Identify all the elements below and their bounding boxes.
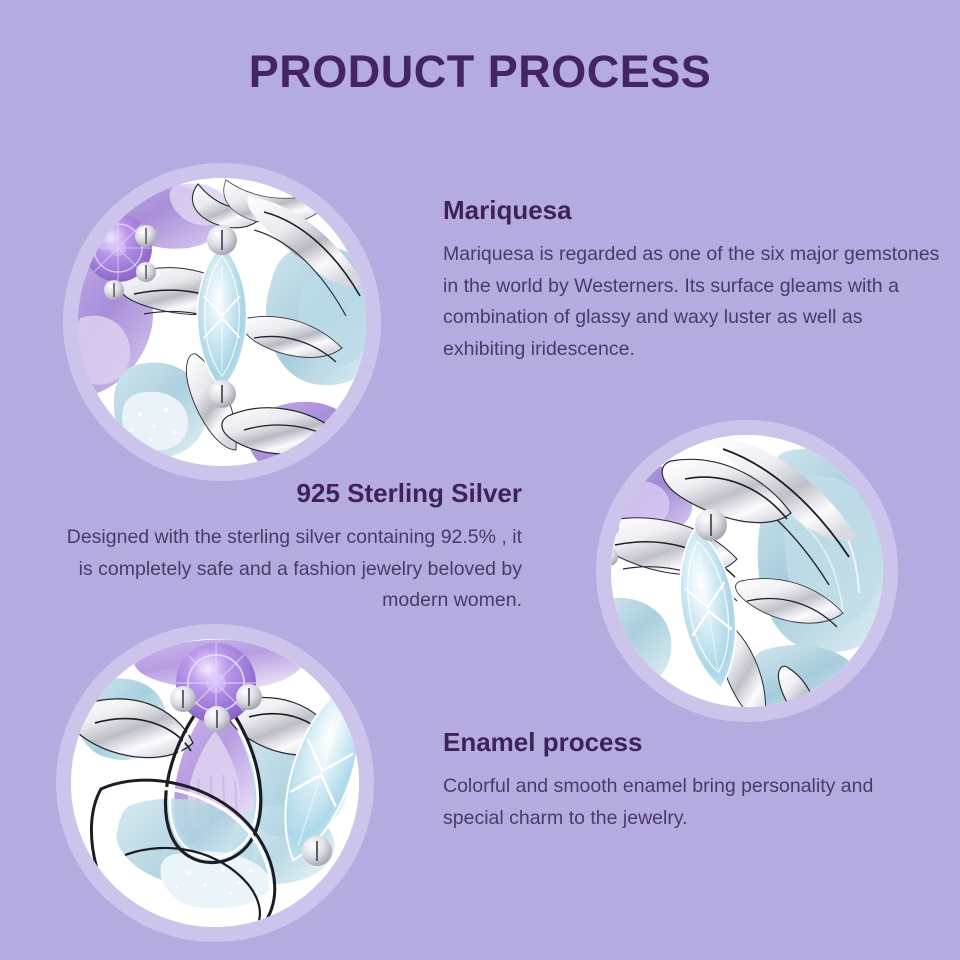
product-photo-mariquesa	[63, 163, 381, 481]
photo-frame-sterling-silver	[611, 435, 883, 707]
section-body-enamel-process: Colorful and smooth enamel bring persona…	[443, 771, 923, 834]
page-title: PRODUCT PROCESS	[0, 46, 960, 98]
section-heading-enamel-process: Enamel process	[443, 727, 923, 758]
section-enamel-process: Enamel process Colorful and smooth ename…	[443, 727, 923, 834]
photo-frame-mariquesa	[78, 178, 366, 466]
section-heading-mariquesa: Mariquesa	[443, 195, 943, 226]
product-photo-sterling-silver	[596, 420, 898, 722]
jewelry-artwork-mariquesa	[78, 178, 366, 466]
jewelry-artwork-sterling-silver	[611, 435, 883, 707]
section-sterling-silver: 925 Sterling Silver Designed with the st…	[62, 478, 522, 617]
section-body-sterling-silver: Designed with the sterling silver contai…	[62, 522, 522, 617]
section-mariquesa: Mariquesa Mariquesa is regarded as one o…	[443, 195, 943, 365]
photo-frame-enamel-process	[71, 639, 359, 927]
product-photo-enamel-process	[56, 624, 374, 942]
section-body-mariquesa: Mariquesa is regarded as one of the six …	[443, 239, 943, 365]
product-process-page: PRODUCT PROCESS	[0, 0, 960, 960]
jewelry-artwork-enamel-process	[71, 639, 359, 927]
section-heading-sterling-silver: 925 Sterling Silver	[62, 478, 522, 509]
